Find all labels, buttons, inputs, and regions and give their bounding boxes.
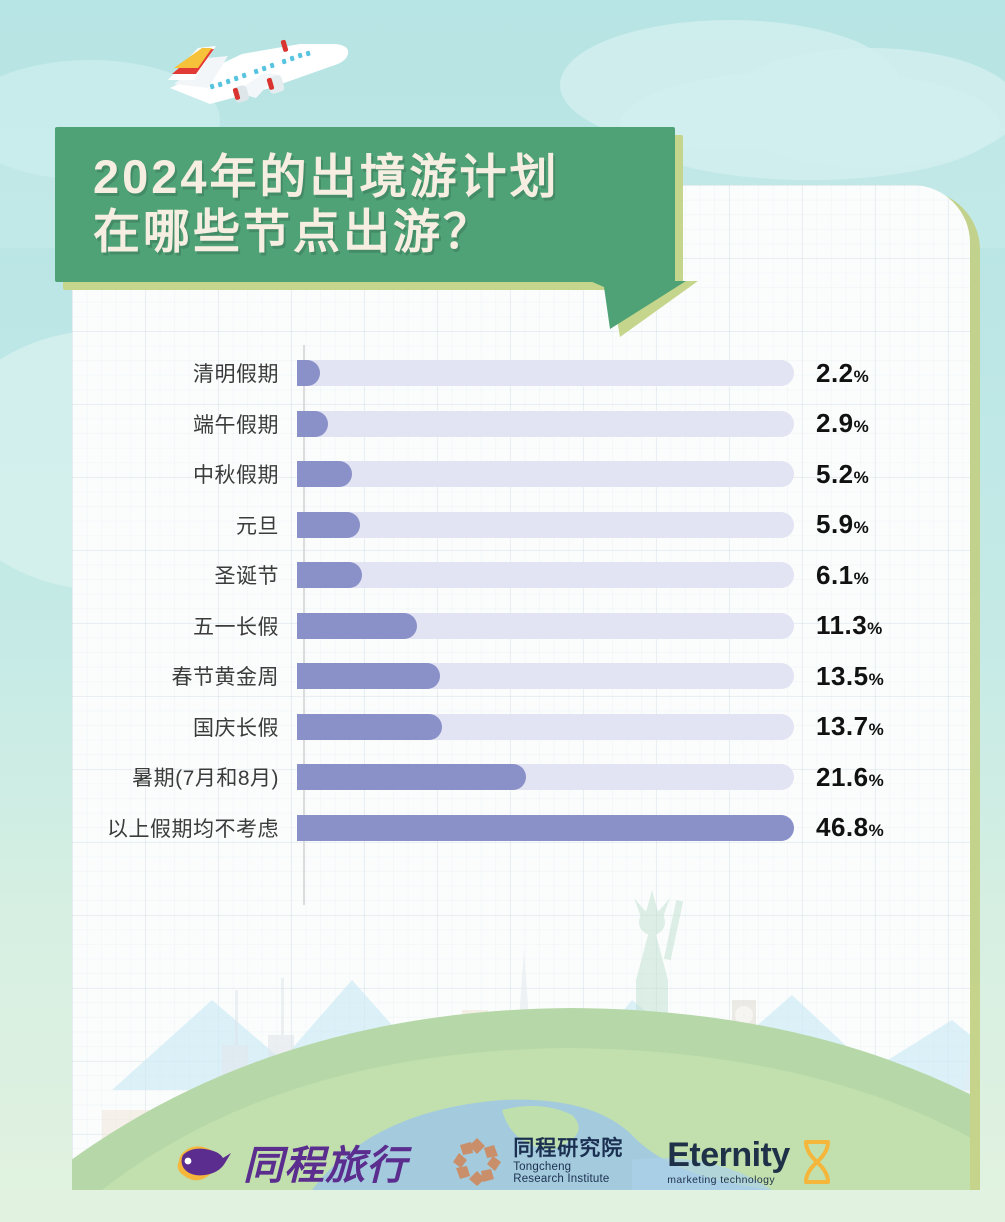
chart-row: 五一长假11.3%: [72, 601, 970, 652]
percent-sign: %: [854, 417, 870, 436]
chart-value-label: 46.8%: [816, 812, 884, 843]
chart-bar-track: [297, 663, 794, 689]
chart-bar-fill: [297, 815, 794, 841]
title-banner: 2024年的出境游计划 在哪些节点出游？: [55, 127, 675, 282]
percent-sign: %: [854, 468, 870, 487]
chart-bar-fill: [297, 461, 352, 487]
percent-sign: %: [869, 720, 885, 739]
chart-bar-fill: [297, 613, 417, 639]
chart-value-number: 21.6: [816, 762, 869, 792]
chart-value-number: 5.2: [816, 459, 854, 489]
chart-value-label: 13.5%: [816, 661, 884, 692]
chart-value-number: 11.3: [816, 610, 867, 640]
chart-value-label: 11.3%: [816, 610, 883, 641]
title-line-1: 2024年的出境游计划: [93, 150, 675, 205]
chart-bar-track: [297, 562, 794, 588]
chart-value-number: 2.2: [816, 358, 854, 388]
chart-row-label: 清明假期: [72, 358, 297, 388]
chart-bar-track: [297, 411, 794, 437]
logo-tongcheng-travel[interactable]: 同程旅行: [171, 1133, 407, 1191]
chart-row: 端午假期2.9%: [72, 399, 970, 450]
chart-value-number: 46.8: [816, 812, 869, 842]
chart-row: 暑期(7月和8月)21.6%: [72, 752, 970, 803]
chart-bar-fill: [297, 714, 442, 740]
logo-tongcheng-research-institute[interactable]: 同程研究院 Tongcheng Research Institute: [451, 1136, 623, 1188]
chart-value-label: 5.9%: [816, 509, 869, 540]
chart-bar-track: [297, 613, 794, 639]
chart-bar-track: [297, 461, 794, 487]
research-institute-cn-label: 同程研究院: [513, 1138, 623, 1161]
chart-value-number: 5.9: [816, 509, 854, 539]
chart-row-label: 以上假期均不考虑: [72, 813, 297, 843]
chart-bar-track: [297, 714, 794, 740]
percent-sign: %: [869, 771, 885, 790]
footer-logos: 同程旅行 同程研究院 Tongcheng Research Institut: [0, 1130, 1005, 1194]
chart-row: 圣诞节6.1%: [72, 550, 970, 601]
chart-row: 清明假期2.2%: [72, 348, 970, 399]
tongcheng-bird-icon: [171, 1139, 233, 1185]
chart-value-label: 6.1%: [816, 560, 869, 591]
chart-bar-track: [297, 360, 794, 386]
eternity-tagline: marketing technology: [667, 1175, 790, 1186]
title-line-2: 在哪些节点出游？: [93, 205, 675, 260]
chart-row-label: 暑期(7月和8月): [72, 762, 297, 792]
chart-bar-fill: [297, 764, 526, 790]
chart-bar-fill: [297, 663, 440, 689]
chart-bar-track: [297, 764, 794, 790]
chart-row: 以上假期均不考虑46.8%: [72, 803, 970, 854]
research-institute-en-line1: Tongcheng: [513, 1161, 623, 1173]
chart-value-label: 21.6%: [816, 762, 884, 793]
eternity-label: Eternity: [667, 1138, 790, 1172]
airplane-icon: [150, 18, 360, 128]
chart-row-label: 五一长假: [72, 611, 297, 641]
percent-sign: %: [854, 367, 870, 386]
chart-row-label: 春节黄金周: [72, 661, 297, 691]
chart-row-label: 圣诞节: [72, 560, 297, 590]
chart-value-number: 2.9: [816, 408, 854, 438]
percent-sign: %: [854, 518, 870, 537]
chart-row: 国庆长假13.7%: [72, 702, 970, 753]
chart-row-label: 端午假期: [72, 409, 297, 439]
chart-bar-track: [297, 815, 794, 841]
chart-value-number: 13.7: [816, 711, 869, 741]
chart-value-label: 2.2%: [816, 358, 869, 389]
chart-bar-fill: [297, 562, 362, 588]
chart-value-number: 13.5: [816, 661, 869, 691]
chart-value-label: 2.9%: [816, 408, 869, 439]
research-institute-en-line2: Research Institute: [513, 1173, 623, 1185]
chart-bar-track: [297, 512, 794, 538]
chart-value-label: 13.7%: [816, 711, 884, 742]
speech-bubble-tail: [590, 281, 710, 341]
chart-row: 春节黄金周13.5%: [72, 651, 970, 702]
percent-sign: %: [854, 569, 870, 588]
percent-sign: %: [867, 619, 883, 638]
chart-row-label: 元旦: [72, 510, 297, 540]
chart-row: 中秋假期5.2%: [72, 449, 970, 500]
percent-sign: %: [869, 670, 885, 689]
chart-value-label: 5.2%: [816, 459, 869, 490]
chart-row-label: 国庆长假: [72, 712, 297, 742]
infographic-poster: 清明假期2.2%端午假期2.9%中秋假期5.2%元旦5.9%圣诞节6.1%五一长…: [0, 0, 1005, 1222]
chart-bar-fill: [297, 360, 320, 386]
percent-sign: %: [869, 821, 885, 840]
chart-row-label: 中秋假期: [72, 459, 297, 489]
chart-bar-fill: [297, 411, 328, 437]
research-institute-flower-icon: [451, 1136, 503, 1188]
chart-rows: 清明假期2.2%端午假期2.9%中秋假期5.2%元旦5.9%圣诞节6.1%五一长…: [72, 348, 970, 853]
bar-chart: 清明假期2.2%端午假期2.9%中秋假期5.2%元旦5.9%圣诞节6.1%五一长…: [72, 185, 970, 1190]
chart-bar-fill: [297, 512, 360, 538]
logo-eternity[interactable]: Eternity marketing technology: [667, 1138, 834, 1186]
chart-value-number: 6.1: [816, 560, 854, 590]
tongcheng-travel-label: 同程旅行: [243, 1133, 407, 1191]
chart-row: 元旦5.9%: [72, 500, 970, 551]
eternity-hourglass-icon: [800, 1138, 834, 1186]
